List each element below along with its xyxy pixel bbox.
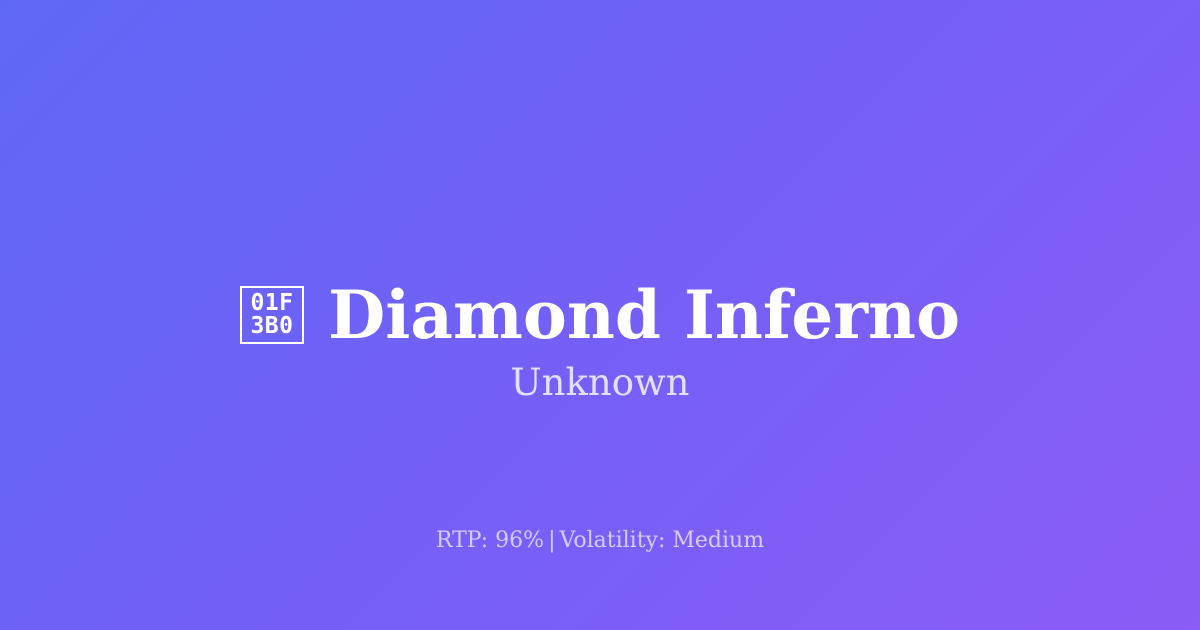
slot-machine-emoji-icon: 01F 3B0 (240, 286, 304, 344)
page-title: Diamond Inferno (328, 282, 960, 348)
tofu-codepoint-high: 01F (250, 292, 293, 315)
meta-separator: | (544, 528, 559, 553)
game-meta-line: RTP: 96%|Volatility: Medium (0, 528, 1200, 554)
rtp-value: RTP: 96% (436, 528, 544, 553)
tofu-codepoint-low: 3B0 (250, 315, 293, 338)
volatility-value: Volatility: Medium (560, 528, 765, 553)
provider-label: Unknown (0, 364, 1200, 401)
game-og-card: 01F 3B0 Diamond Inferno Unknown RTP: 96%… (0, 0, 1200, 630)
